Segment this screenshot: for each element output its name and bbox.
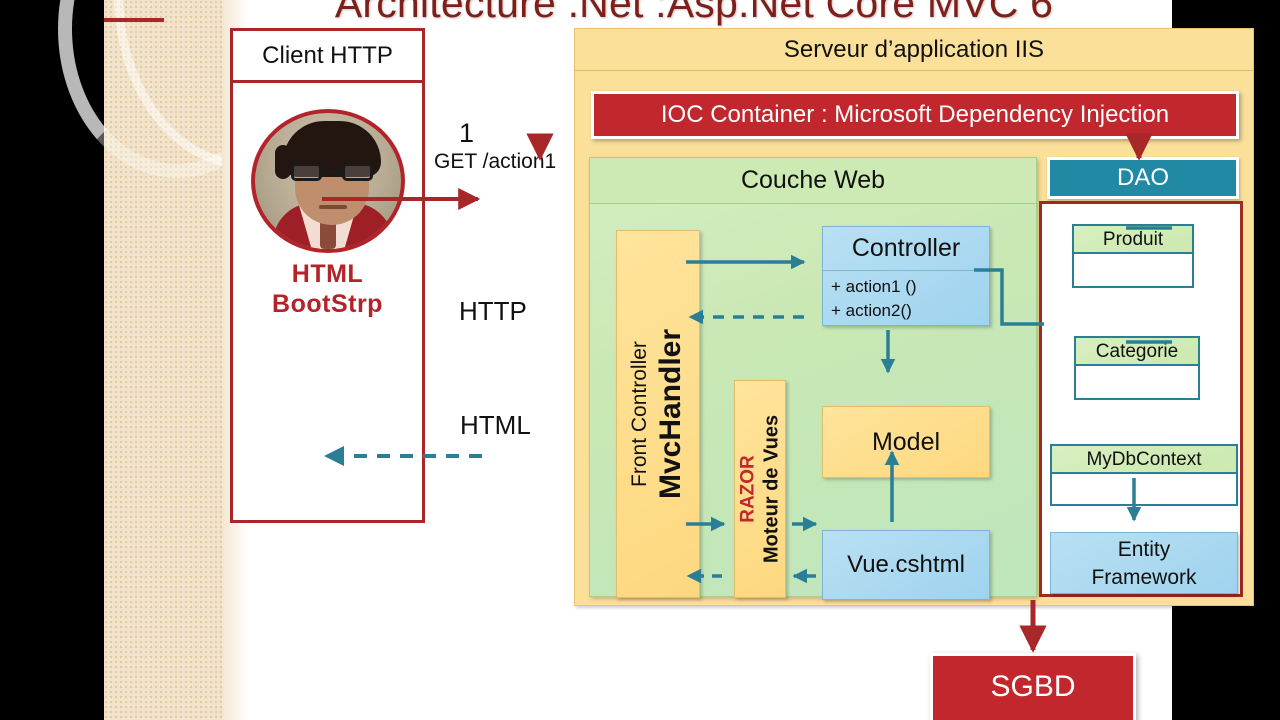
entity-categorie: Categorie	[1074, 336, 1200, 400]
client-tech-stack: HTML BootStrp	[233, 259, 422, 319]
view-engine-box: Moteur de Vues RAZOR	[734, 380, 786, 598]
flow-request-label: GET /action1	[434, 150, 556, 174]
view-box: Vue.cshtml	[822, 530, 990, 600]
entity-mydbcontext-name: MyDbContext	[1050, 444, 1238, 474]
database-box: SGBD	[930, 653, 1136, 720]
slide-canvas: Architecture .Net :Asp.Net Core MVC 6 Cl…	[0, 0, 1280, 720]
entity-framework-box: Entity Framework	[1050, 532, 1238, 594]
iis-server-title: Serveur d’application IIS	[575, 29, 1253, 71]
slide-surface: Architecture .Net :Asp.Net Core MVC 6 Cl…	[104, 0, 1172, 720]
avatar	[251, 109, 405, 253]
client-tech-bootstrap: BootStrp	[233, 289, 422, 319]
view-engine-razor: RAZOR	[737, 455, 760, 523]
view-engine-name: Moteur de Vues	[760, 415, 784, 563]
controller-box: Controller + action1 () + action2()	[822, 226, 990, 326]
entity-categorie-name: Categorie	[1074, 336, 1200, 366]
entity-produit: Produit	[1072, 224, 1194, 288]
ioc-container-box: IOC Container : Microsoft Dependency Inj…	[591, 91, 1239, 139]
title-underline	[104, 18, 164, 22]
entity-mydbcontext-body	[1050, 474, 1238, 506]
page-title: Architecture .Net :Asp.Net Core MVC 6	[244, 0, 1144, 27]
mvc-handler-name: MvcHandler	[653, 329, 689, 499]
client-http-title: Client HTTP	[233, 31, 422, 83]
entity-produit-name: Produit	[1072, 224, 1194, 254]
controller-action-2: + action2()	[831, 299, 989, 323]
client-tech-html: HTML	[233, 259, 422, 289]
model-box: Model	[822, 406, 990, 478]
controller-name: Controller	[823, 227, 989, 271]
entity-framework-line2: Framework	[1051, 564, 1237, 592]
controller-action-1: + action1 ()	[831, 275, 989, 299]
entity-produit-body	[1072, 254, 1194, 288]
flow-response-label: HTML	[460, 410, 531, 441]
flow-step-number: 1	[459, 118, 474, 149]
dao-title: DAO	[1047, 157, 1239, 199]
entity-mydbcontext: MyDbContext	[1050, 444, 1238, 506]
mvc-handler-box: MvcHandler Front Controller	[616, 230, 700, 598]
iis-server-panel: Serveur d’application IIS IOC Container …	[574, 28, 1254, 606]
web-layer-panel: Couche Web MvcHandler Front Controller M…	[589, 157, 1037, 597]
entity-framework-line1: Entity	[1051, 536, 1237, 564]
user-photo-icon	[251, 109, 405, 253]
controller-operations: + action1 () + action2()	[823, 271, 989, 323]
web-layer-title: Couche Web	[590, 158, 1036, 204]
decorative-texture-strip	[104, 0, 222, 720]
mvc-handler-role: Front Controller	[627, 341, 653, 487]
flow-protocol-label: HTTP	[459, 296, 527, 327]
entity-categorie-body	[1074, 366, 1200, 400]
client-http-panel: Client HTTP HTML BootStrp	[230, 28, 425, 523]
dao-panel: Produit Categorie MyDbContext Entity Fra…	[1039, 201, 1243, 597]
